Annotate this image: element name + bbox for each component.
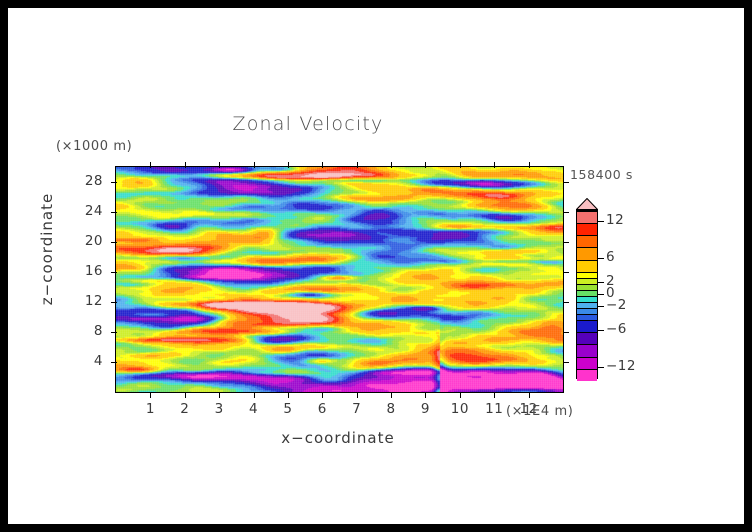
x-tick-label: 9 [410, 401, 440, 417]
y-tick-mark [563, 332, 569, 333]
colorbar-tick-label: 12 [606, 212, 624, 228]
x-tick-mark [357, 392, 358, 398]
timestamp-label: 158400 s [570, 167, 633, 182]
x-tick-mark [254, 162, 255, 168]
colorbar-tick-label: −6 [606, 321, 627, 337]
y-tick-mark [111, 332, 117, 333]
colorbar-band [577, 211, 597, 223]
y-tick-label: 20 [69, 233, 103, 249]
colorbar-band [577, 247, 597, 259]
x-tick-label: 2 [170, 401, 200, 417]
colorbar-tick-label: −12 [606, 358, 636, 374]
colorbar-band [577, 332, 597, 344]
x-tick-label: 6 [307, 401, 337, 417]
x-tick-mark [425, 162, 426, 168]
contour-plot-area [115, 166, 564, 393]
page-title: Zonal Velocity [8, 113, 608, 135]
velocity-field-heatmap [116, 167, 563, 392]
colorbar-tick-mark [598, 306, 604, 307]
y-tick-mark [563, 272, 569, 273]
colorbar-tick-mark [598, 282, 604, 283]
y-tick-mark [563, 302, 569, 303]
x-tick-label: 1 [135, 401, 165, 417]
y-tick-label: 24 [69, 203, 103, 219]
x-tick-mark [460, 392, 461, 398]
y-tick-label: 16 [69, 263, 103, 279]
x-tick-mark [288, 162, 289, 168]
x-tick-label: 5 [273, 401, 303, 417]
y-tick-mark [111, 242, 117, 243]
x-tick-label: 10 [445, 401, 475, 417]
x-tick-mark [185, 162, 186, 168]
x-tick-mark [460, 162, 461, 168]
y-axis-title: z−coordinate [38, 174, 56, 324]
x-tick-mark [322, 162, 323, 168]
colorbar-tick-mark [598, 294, 604, 295]
colorbar-band-stack [576, 209, 598, 379]
x-tick-mark [219, 162, 220, 168]
x-tick-mark [494, 162, 495, 168]
x-tick-label: 3 [204, 401, 234, 417]
x-tick-mark [288, 392, 289, 398]
y-tick-mark [111, 272, 117, 273]
y-axis-units-label: (×1000 m) [56, 139, 132, 154]
colorbar-band [577, 260, 597, 272]
colorbar-tick-label: 6 [606, 249, 615, 265]
x-tick-mark [357, 162, 358, 168]
x-tick-mark [529, 392, 530, 398]
colorbar-band [577, 235, 597, 247]
colorbar-band [577, 344, 597, 356]
colorbar-band [577, 357, 597, 369]
y-tick-mark [111, 212, 117, 213]
x-axis-title: x−coordinate [188, 429, 488, 447]
colorbar-tick-mark [598, 221, 604, 222]
x-tick-label: 11 [479, 401, 509, 417]
colorbar-band [577, 223, 597, 235]
colorbar-tick-label: −2 [606, 297, 627, 313]
y-tick-label: 4 [69, 353, 103, 369]
x-tick-mark [494, 392, 495, 398]
x-tick-mark [150, 392, 151, 398]
y-tick-mark [111, 362, 117, 363]
y-tick-mark [563, 362, 569, 363]
x-tick-mark [391, 392, 392, 398]
y-tick-label: 28 [69, 173, 103, 189]
figure-canvas: Zonal Velocity (×1000 m) 158400 s 123456… [8, 8, 744, 524]
colorbar-tick-mark [598, 330, 604, 331]
x-tick-mark [322, 392, 323, 398]
y-tick-mark [111, 302, 117, 303]
x-tick-mark [254, 392, 255, 398]
colorbar-band [577, 320, 597, 332]
y-tick-label: 12 [69, 293, 103, 309]
colorbar-band [577, 369, 597, 381]
x-tick-mark [391, 162, 392, 168]
x-tick-mark [185, 392, 186, 398]
colorbar-tick-mark [598, 367, 604, 368]
colorbar-tick-mark [598, 258, 604, 259]
y-tick-mark [563, 242, 569, 243]
y-tick-label: 8 [69, 323, 103, 339]
x-tick-mark [219, 392, 220, 398]
x-tick-mark [425, 392, 426, 398]
y-tick-mark [563, 212, 569, 213]
x-axis-units-label: (×1E4 m) [506, 404, 573, 419]
x-tick-mark [150, 162, 151, 168]
x-tick-label: 4 [239, 401, 269, 417]
x-tick-label: 7 [342, 401, 372, 417]
y-tick-mark [111, 182, 117, 183]
x-tick-mark [529, 162, 530, 168]
x-tick-label: 8 [376, 401, 406, 417]
y-tick-mark [563, 182, 569, 183]
